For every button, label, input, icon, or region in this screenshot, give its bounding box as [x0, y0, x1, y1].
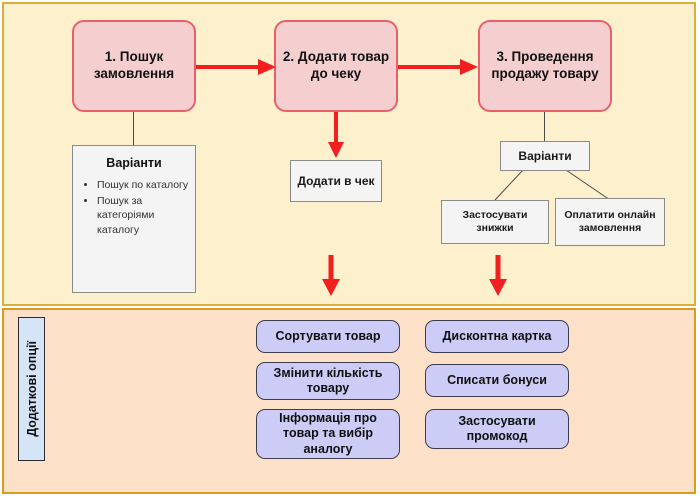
chip-sort-product[interactable]: Сортувати товар	[256, 320, 400, 353]
chip-write-off-bonuses-label: Списати бонуси	[447, 373, 547, 388]
apply-discounts-box[interactable]: Застосувати знижки	[441, 200, 549, 244]
chip-change-quantity-label: Змінити кількість товару	[262, 366, 394, 397]
chip-apply-promocode-label: Застосувати промокод	[431, 414, 563, 445]
add-to-receipt-label: Додати в чек	[297, 174, 374, 189]
chip-discount-card[interactable]: Дисконтна картка	[425, 320, 569, 353]
chip-product-info-analog-label: Інформація про товар та вибір аналогу	[262, 411, 394, 457]
process-step-2-label: 2. Додати товар до чеку	[282, 49, 390, 83]
connector-step3-to-variants	[544, 112, 545, 141]
step1-variant-item: Пошук за категоріями каталогу	[97, 194, 189, 237]
step1-variants-card: Варіанти Пошук по каталогу Пошук за кате…	[72, 145, 196, 293]
process-step-3-label: 3. Проведення продажу товару	[486, 49, 604, 83]
arrow-step2-to-step3	[398, 56, 482, 78]
process-step-3[interactable]: 3. Проведення продажу товару	[478, 20, 612, 112]
apply-discounts-label: Застосувати знижки	[445, 209, 545, 235]
step3-variants-title: Варіанти	[518, 149, 571, 164]
step3-variants-box[interactable]: Варіанти	[500, 141, 590, 171]
chip-change-quantity[interactable]: Змінити кількість товару	[256, 362, 400, 400]
step1-variants-title: Варіанти	[79, 156, 189, 170]
step1-variant-item: Пошук по каталогу	[97, 178, 189, 192]
arrow-down-to-payment-options	[487, 255, 509, 297]
process-step-2[interactable]: 2. Додати товар до чеку	[274, 20, 398, 112]
add-to-receipt-box[interactable]: Додати в чек	[290, 160, 382, 202]
arrow-step1-to-step2	[196, 56, 278, 78]
connector-step1-to-variants	[133, 112, 134, 145]
pay-online-order-box[interactable]: Оплатити онлайн замовлення	[555, 198, 665, 246]
process-step-1-label: 1. Пошук замовлення	[80, 49, 188, 83]
chip-product-info-analog[interactable]: Інформація про товар та вибір аналогу	[256, 409, 400, 459]
arrow-step2-to-add-to-receipt	[325, 112, 347, 160]
chip-write-off-bonuses[interactable]: Списати бонуси	[425, 364, 569, 397]
chip-sort-product-label: Сортувати товар	[276, 329, 381, 344]
pay-online-order-label: Оплатити онлайн замовлення	[559, 209, 661, 235]
additional-options-side-label: Додаткові опції	[18, 317, 45, 461]
additional-options-side-label-text: Додаткові опції	[25, 341, 39, 437]
arrow-down-to-product-options	[320, 255, 342, 297]
chip-discount-card-label: Дисконтна картка	[443, 329, 552, 344]
process-step-1[interactable]: 1. Пошук замовлення	[72, 20, 196, 112]
diagram-canvas: 1. Пошук замовлення 2. Додати товар до ч…	[0, 0, 700, 496]
chip-apply-promocode[interactable]: Застосувати промокод	[425, 409, 569, 449]
step1-variants-list: Пошук по каталогу Пошук за категоріями к…	[79, 178, 189, 237]
